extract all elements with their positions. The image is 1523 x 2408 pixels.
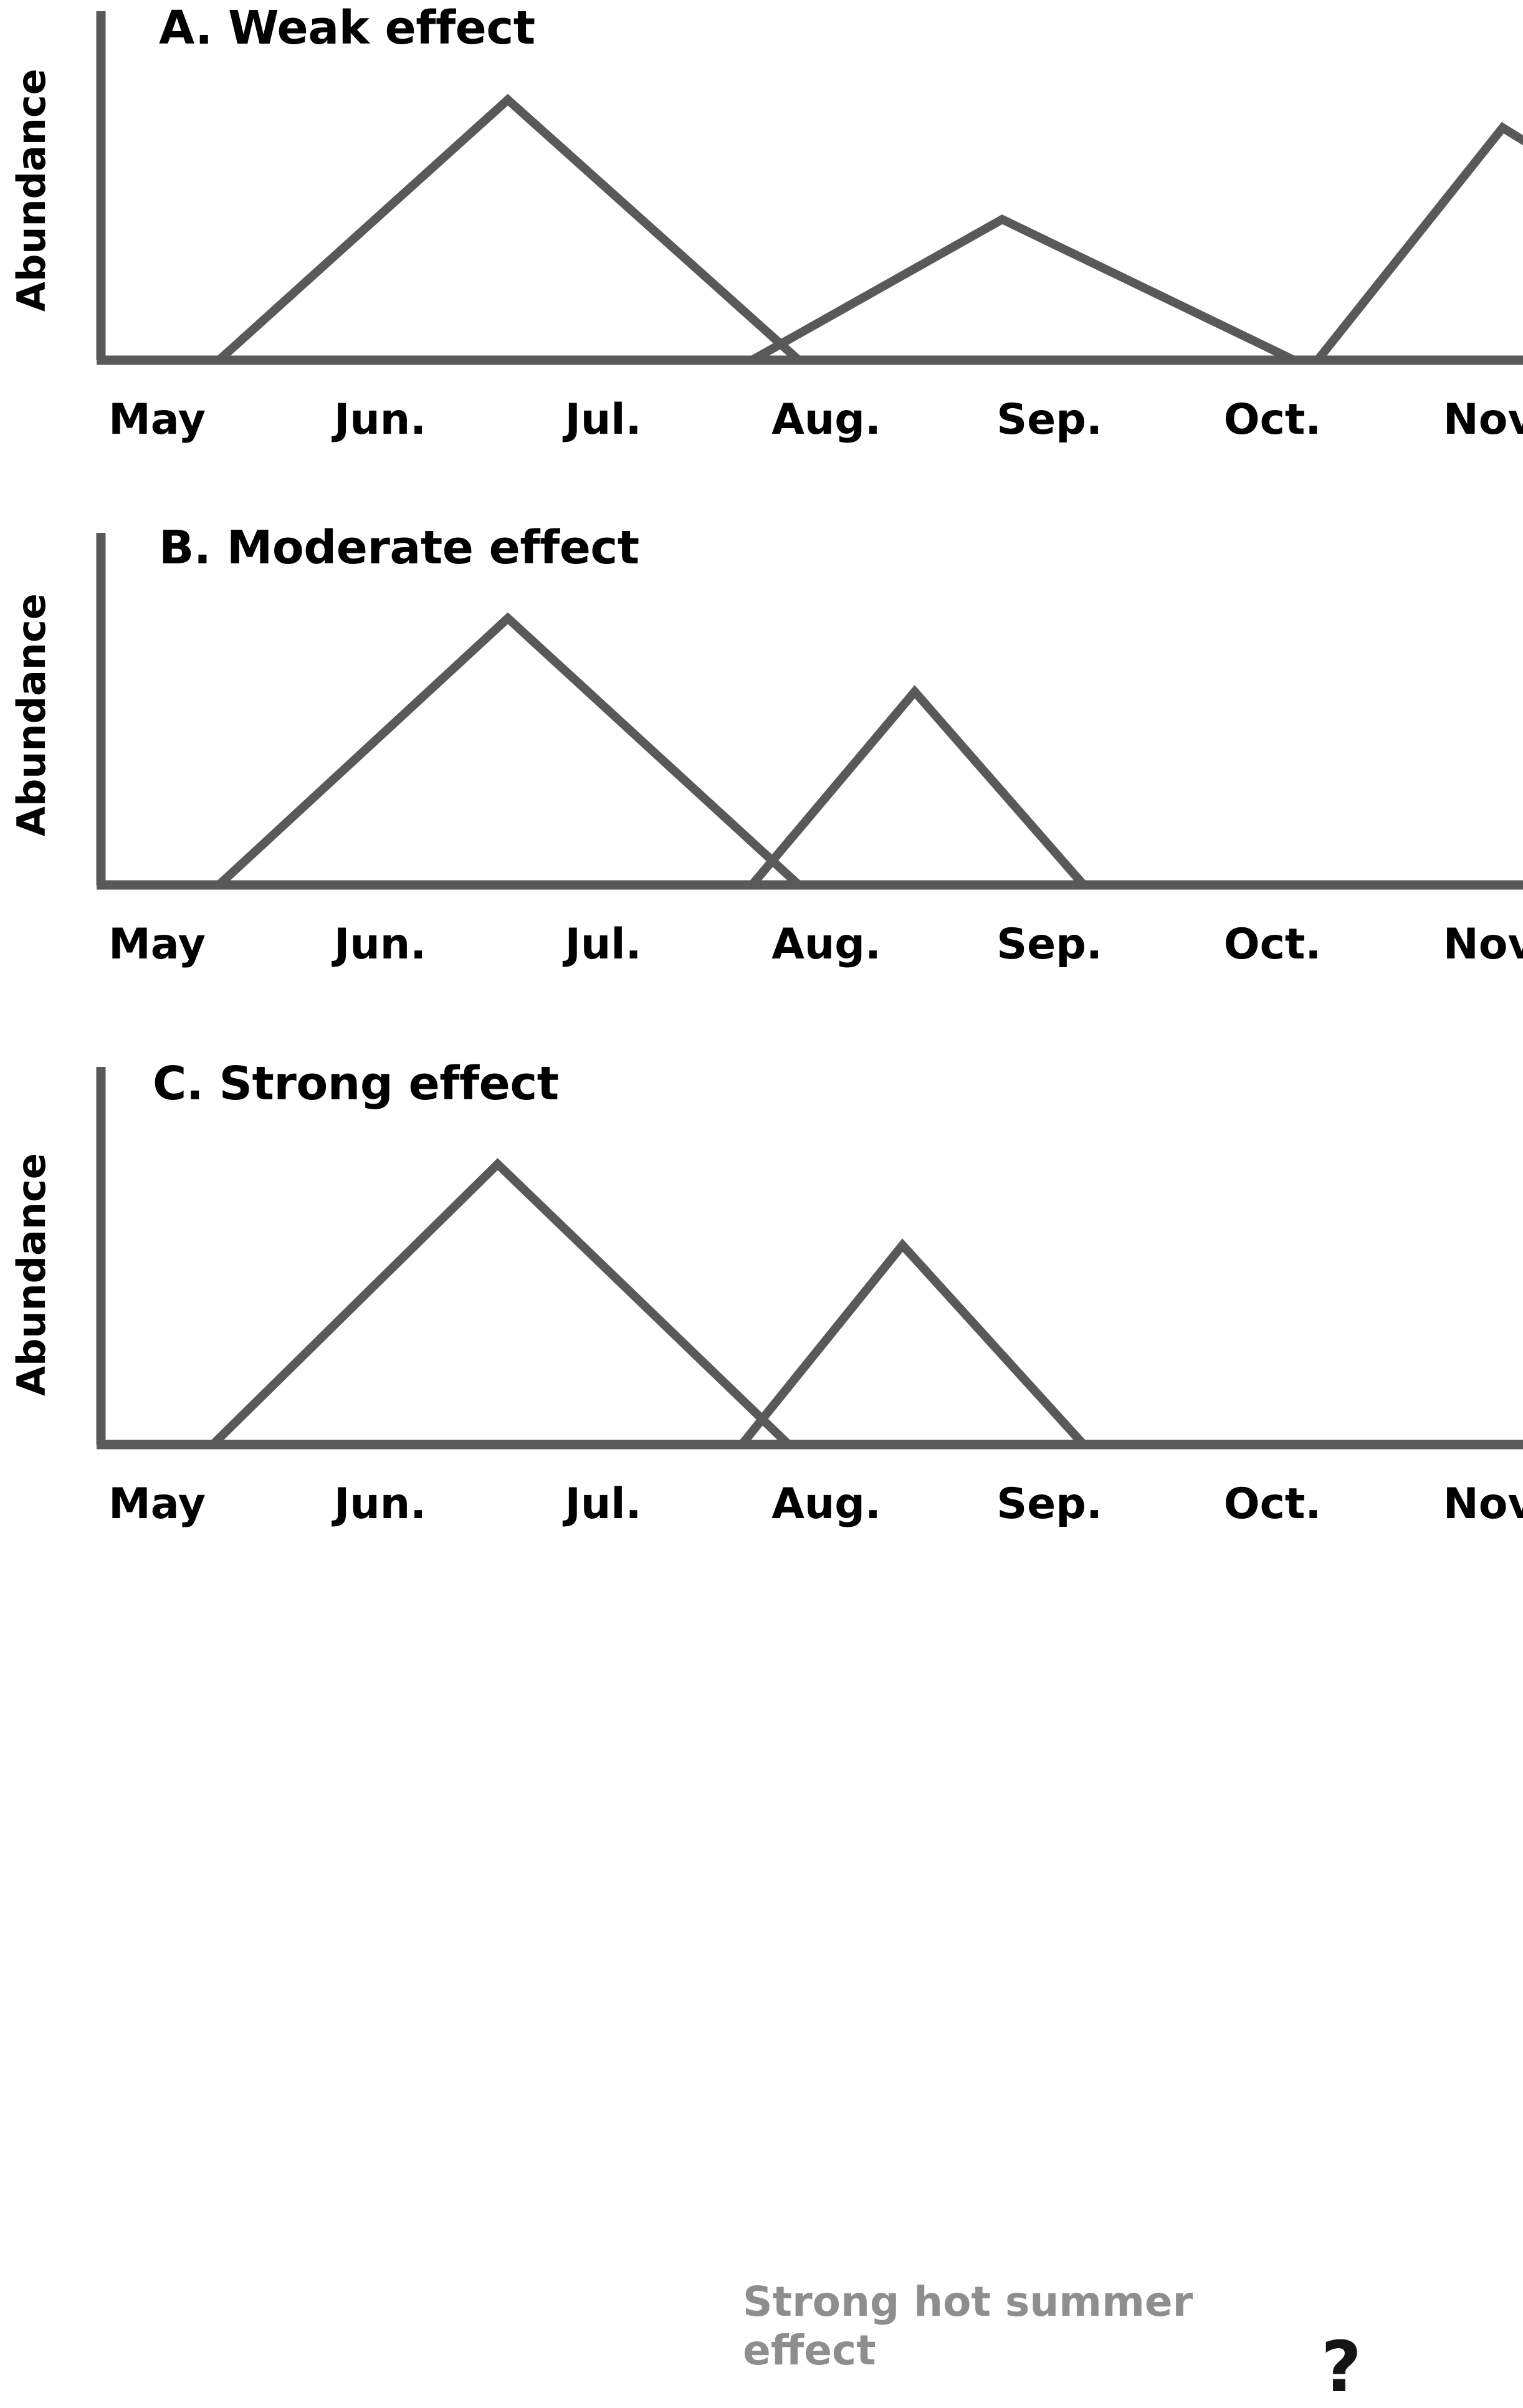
x-tick-sep: Sep.: [996, 1483, 1102, 1526]
panel-b-title: B. Moderate effect: [159, 525, 639, 571]
panel-c-x-tick-labels: May Jun. Jul. Aug. Sep. Oct. Nov.: [0, 1483, 1523, 1539]
x-tick-jun: Jun.: [334, 924, 426, 966]
x-tick-jul: Jul.: [565, 924, 642, 966]
x-tick-aug: Aug.: [771, 924, 881, 966]
panel-b: B. Moderate effect Abundance May Jun. Ju…: [0, 511, 1523, 1028]
panel-c-curve-generation-2: [742, 1245, 1083, 1445]
x-tick-oct: Oct.: [1224, 399, 1321, 441]
x-tick-may: May: [108, 1483, 206, 1526]
panel-c-title: C. Strong effect: [153, 1061, 559, 1107]
x-tick-may: May: [108, 924, 206, 966]
x-tick-nov: Nov.: [1443, 399, 1523, 441]
hot-summer-effect-annotation: Strong hot summer effect: [743, 2278, 1193, 2375]
x-tick-oct: Oct.: [1224, 924, 1321, 966]
panel-a-x-tick-labels: May Jun. Jul. Aug. Sep. Oct. Nov.: [0, 399, 1523, 455]
panel-b-curve-generation-1: [219, 618, 798, 885]
x-tick-may: May: [108, 399, 206, 441]
x-tick-nov: Nov.: [1443, 1483, 1523, 1526]
x-tick-jun: Jun.: [334, 399, 426, 441]
x-tick-aug: Aug.: [771, 399, 881, 441]
panel-a: A. Weak effect Abundance May Jun. Jul. A…: [0, 0, 1523, 499]
panel-b-curve-generation-2: [752, 692, 1084, 885]
panel-c: C. Strong effect Abundance Strong hot su…: [0, 1047, 1523, 1550]
x-tick-oct: Oct.: [1224, 1483, 1321, 1526]
panel-b-x-tick-labels: May Jun. Jul. Aug. Sep. Oct. Nov.: [0, 924, 1523, 980]
x-tick-aug: Aug.: [771, 1483, 881, 1526]
x-tick-jul: Jul.: [565, 1483, 642, 1526]
x-tick-sep: Sep.: [996, 924, 1102, 966]
panel-a-curve-generation-1: [219, 100, 798, 360]
panel-c-curve-generation-1: [213, 1164, 789, 1445]
panel-a-curve-generation-3: [1317, 128, 1523, 360]
x-tick-sep: Sep.: [996, 399, 1102, 441]
x-tick-nov: Nov.: [1443, 924, 1523, 966]
panel-a-title: A. Weak effect: [159, 5, 535, 51]
panel-a-curve-generation-2: [752, 219, 1294, 360]
panel-c-y-axis-label: Abundance: [12, 1153, 51, 1396]
question-mark-annotation: ?: [1321, 2333, 1362, 2402]
panel-a-y-axis-label: Abundance: [12, 69, 51, 312]
figure-root: A. Weak effect Abundance May Jun. Jul. A…: [0, 0, 1523, 1550]
x-tick-jul: Jul.: [565, 399, 642, 441]
x-tick-jun: Jun.: [334, 1483, 426, 1526]
panel-c-plot: [0, 1047, 1523, 1550]
panel-b-y-axis-label: Abundance: [12, 593, 51, 836]
